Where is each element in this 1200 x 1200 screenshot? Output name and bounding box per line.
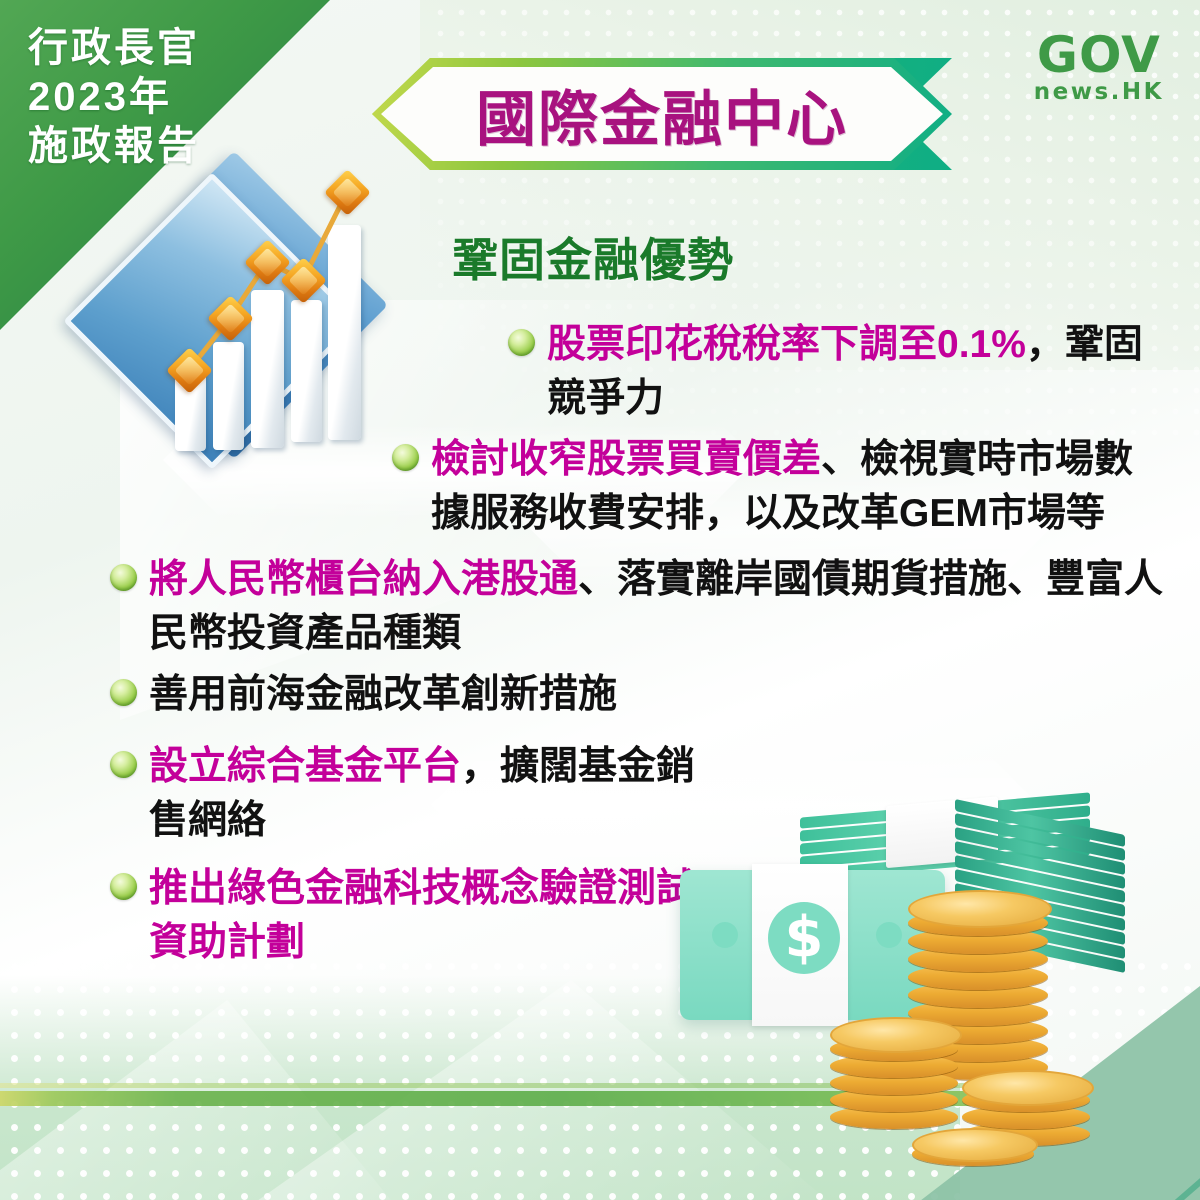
bullet-text-1: 股票印花稅稅率下調至0.1%，鞏固競爭力 xyxy=(547,318,1168,426)
report-title-line-2: 2023年 xyxy=(28,73,268,122)
report-title: 行政長官 2023年 施政報告 xyxy=(28,24,268,171)
banknote-circle-right xyxy=(876,922,902,948)
bottom-left-triangle xyxy=(0,1000,440,1200)
green-bullet-icon xyxy=(110,679,137,706)
bullet-highlight-3: 將人民幣櫃台納入港股通 xyxy=(149,558,578,601)
green-bullet-icon xyxy=(110,873,137,900)
bullet-text-4: 善用前海金融改革創新措施 xyxy=(149,668,617,722)
green-bullet-icon xyxy=(110,751,137,778)
chart-trend-line xyxy=(85,170,390,510)
bullet-highlight-1: 股票印花稅稅率下調至0.1% xyxy=(547,323,1026,366)
green-bullet-icon xyxy=(392,444,419,471)
bullet-item-4: 善用前海金融改革創新措施 xyxy=(110,668,810,722)
report-title-line-1: 行政長官 xyxy=(28,24,268,73)
infographic-poster: 行政長官 2023年 施政報告 GOV news.HK 國際金融中心 鞏固金融優… xyxy=(0,0,1200,1200)
logo-newshk-text: news.HK xyxy=(1034,80,1164,104)
bullet-plain-4: 善用前海金融改革創新措施 xyxy=(149,673,617,716)
growth-bar-chart-illustration xyxy=(85,170,390,510)
bullet-item-3: 將人民幣櫃台納入港股通、落實離岸國債期貨措施、豐富人民幣投資產品種類 xyxy=(110,553,1175,661)
bullet-highlight-5: 設立綜合基金平台 xyxy=(149,745,461,788)
banknote-circle-left xyxy=(712,922,738,948)
section-banner: 國際金融中心 xyxy=(372,58,952,170)
green-bullet-icon xyxy=(110,564,137,591)
bullet-item-1: 股票印花稅稅率下調至0.1%，鞏固競爭力 xyxy=(508,318,1168,426)
bullet-item-5: 設立綜合基金平台，擴闊基金銷售網絡 xyxy=(110,740,730,848)
bullet-text-3: 將人民幣櫃台納入港股通、落實離岸國債期貨措施、豐富人民幣投資產品種類 xyxy=(149,553,1175,661)
bullet-text-5: 設立綜合基金平台，擴闊基金銷售網絡 xyxy=(149,740,730,848)
logo-gov-text: GOV xyxy=(1034,30,1164,80)
banner-title-text: 國際金融中心 xyxy=(372,58,952,170)
bullet-item-6: 推出綠色金融科技概念驗證測試資助計劃 xyxy=(110,862,730,970)
money-and-coins-illustration: $ xyxy=(690,795,1200,1200)
bullet-text-2: 檢討收窄股票買賣價差、檢視實時市場數據服務收費安排，以及改革GEM市場等 xyxy=(431,433,1172,541)
banknote-front: $ xyxy=(680,870,945,1020)
green-bullet-icon xyxy=(508,329,535,356)
bullet-text-6: 推出綠色金融科技概念驗證測試資助計劃 xyxy=(149,862,730,970)
bullet-highlight-6: 推出綠色金融科技概念驗證測試資助計劃 xyxy=(149,867,695,964)
bullet-item-2: 檢討收窄股票買賣價差、檢視實時市場數據服務收費安排，以及改革GEM市場等 xyxy=(392,433,1172,541)
govnews-logo[interactable]: GOV news.HK xyxy=(1034,30,1164,104)
dollar-sign-icon: $ xyxy=(768,902,840,974)
section-subtitle: 鞏固金融優勢 xyxy=(452,224,734,290)
bullet-highlight-2: 檢討收窄股票買賣價差 xyxy=(431,438,821,481)
